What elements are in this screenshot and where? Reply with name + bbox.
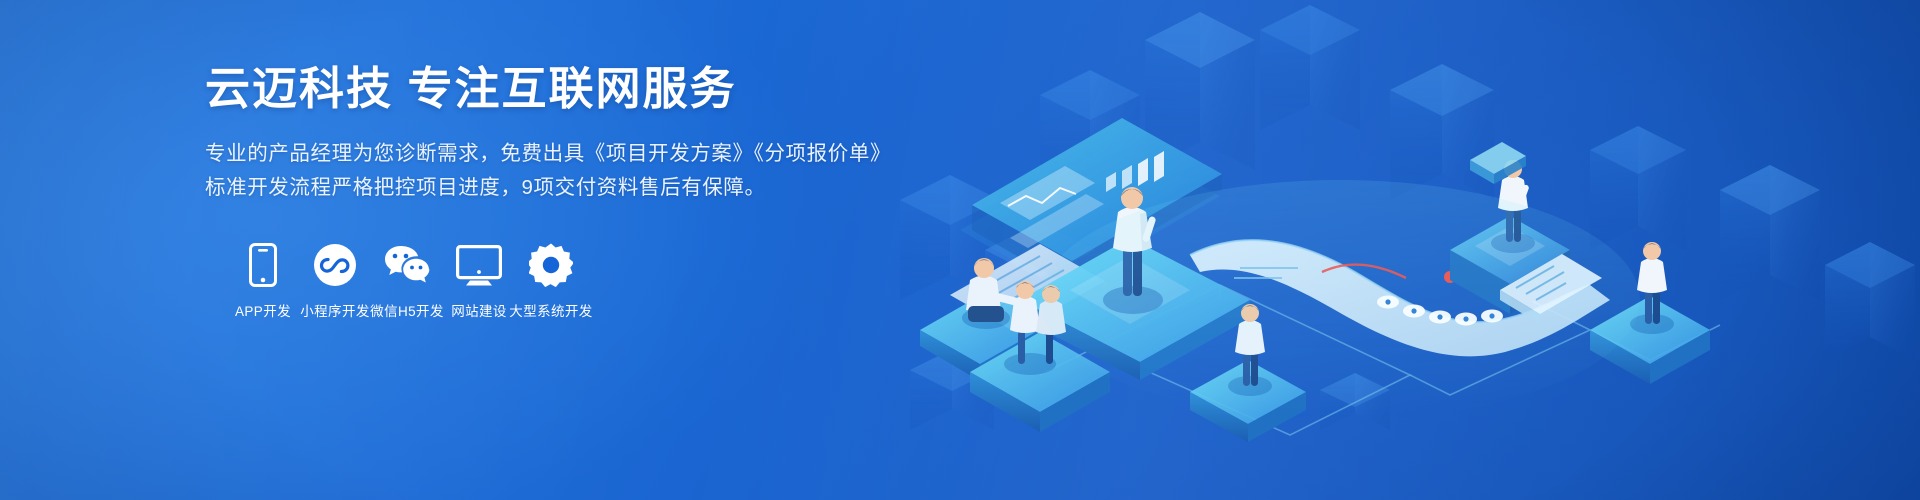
hero-banner: 云迈科技 专注互联网服务 专业的产品经理为您诊断需求，免费出具《项目开发方案》《… bbox=[0, 0, 1920, 500]
service-label: APP开发 bbox=[235, 300, 291, 320]
monitor-icon bbox=[456, 239, 502, 287]
isometric-tech-illustration bbox=[890, 0, 1920, 500]
service-item-wechat[interactable]: 微信H5开发 bbox=[371, 239, 443, 320]
gear-icon bbox=[529, 239, 573, 287]
wechat-icon bbox=[382, 239, 432, 287]
hero-subtitle: 专业的产品经理为您诊断需求，免费出具《项目开发方案》《分项报价单》 标准开发流程… bbox=[205, 137, 925, 205]
mobile-phone-icon bbox=[249, 239, 277, 287]
service-list: APP开发 小程序开发 bbox=[227, 239, 925, 320]
service-label: 微信H5开发 bbox=[370, 300, 444, 320]
service-item-system[interactable]: 大型系统开发 bbox=[515, 239, 587, 320]
service-item-website[interactable]: 网站建设 bbox=[443, 239, 515, 320]
service-item-app[interactable]: APP开发 bbox=[227, 239, 299, 320]
service-label: 大型系统开发 bbox=[509, 300, 592, 320]
hero-content: 云迈科技 专注互联网服务 专业的产品经理为您诊断需求，免费出具《项目开发方案》《… bbox=[205, 62, 925, 320]
page-title: 云迈科技 专注互联网服务 bbox=[205, 62, 925, 115]
service-item-miniprogram[interactable]: 小程序开发 bbox=[299, 239, 371, 320]
subtitle-line-2: 标准开发流程严格把控项目进度，9项交付资料售后有保障。 bbox=[205, 171, 925, 205]
subtitle-line-1: 专业的产品经理为您诊断需求，免费出具《项目开发方案》《分项报价单》 bbox=[205, 137, 925, 171]
service-label: 小程序开发 bbox=[300, 300, 370, 320]
service-label: 网站建设 bbox=[451, 300, 507, 320]
mini-program-icon bbox=[313, 239, 357, 287]
